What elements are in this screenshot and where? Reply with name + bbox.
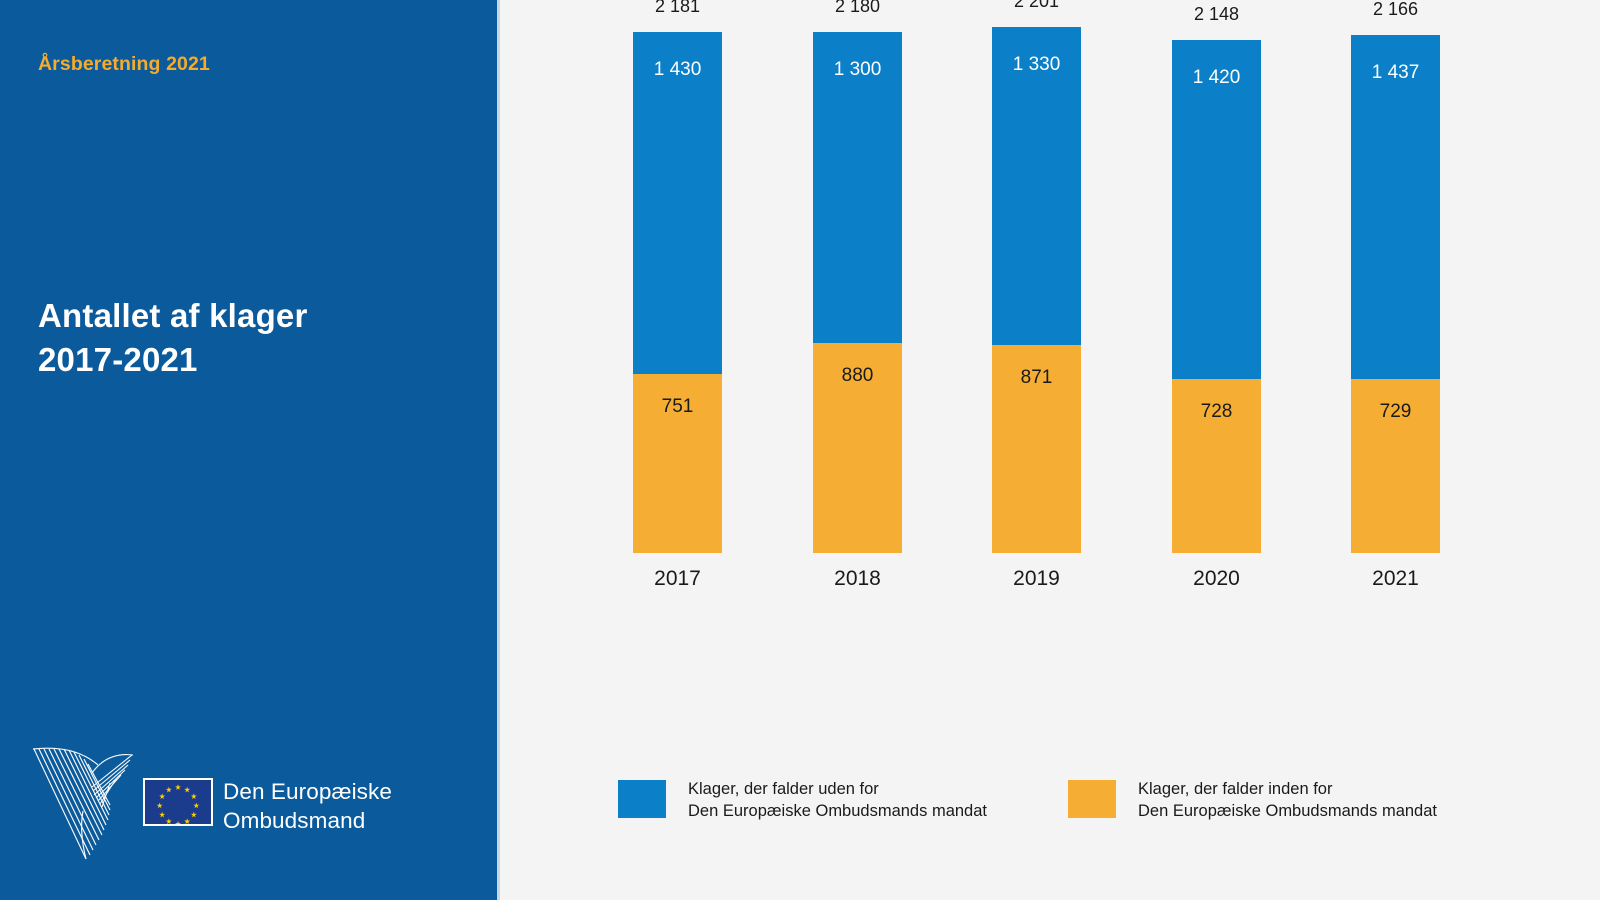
legend-item-outside-mandate[interactable]: Klager, der falder uden forDen Europæisk… — [618, 778, 987, 822]
x-axis-tick-2020: 2020 — [1147, 567, 1287, 591]
bar-total-label: 2 148 — [1147, 4, 1287, 25]
segment-value-outside-mandate: 1 330 — [992, 54, 1081, 76]
bar-group-2018: 2 1801 3008802018 — [813, 32, 902, 553]
eu-flag-icon — [143, 778, 213, 826]
chart-panel: 2 1811 43075120172 1801 30088020182 2011… — [500, 0, 1600, 900]
segment-value-inside-mandate: 871 — [992, 367, 1081, 389]
x-axis-tick-2021: 2021 — [1326, 567, 1466, 591]
page-title-line-1: Antallet af klager — [38, 297, 308, 334]
ombudsman-bird-icon — [30, 735, 140, 865]
legend-label-line-2: Den Europæiske Ombudsmands mandat — [1138, 800, 1437, 822]
segment-value-inside-mandate: 751 — [633, 396, 722, 418]
slide-root: Årsberetning 2021 Antallet af klager 201… — [0, 0, 1600, 900]
bar-segment-inside-mandate: 751 — [633, 374, 722, 553]
bar-group-2020: 2 1481 4207282020 — [1172, 40, 1261, 553]
page-title-line-2: 2017-2021 — [38, 338, 458, 382]
organisation-name: Den Europæiske Ombudsmand — [223, 777, 392, 835]
segment-value-inside-mandate: 729 — [1351, 401, 1440, 423]
x-axis-tick-2018: 2018 — [788, 567, 928, 591]
segment-value-inside-mandate: 728 — [1172, 401, 1261, 423]
bar-segment-outside-mandate: 1 430 — [633, 32, 722, 374]
x-axis-tick-2019: 2019 — [967, 567, 1107, 591]
bar-segment-outside-mandate: 1 437 — [1351, 35, 1440, 379]
segment-value-outside-mandate: 1 437 — [1351, 62, 1440, 84]
legend-label-line-1: Klager, der falder inden for — [1138, 780, 1332, 798]
bar-group-2019: 2 2011 3308712019 — [992, 27, 1081, 553]
bar-segment-outside-mandate: 1 330 — [992, 27, 1081, 345]
sidebar-panel: Årsberetning 2021 Antallet af klager 201… — [0, 0, 497, 900]
bar-group-2017: 2 1811 4307512017 — [633, 32, 722, 553]
bar-segment-outside-mandate: 1 420 — [1172, 40, 1261, 379]
stacked-bar-chart: 2 1811 43075120172 1801 30088020182 2011… — [500, 0, 1600, 760]
bar-segment-inside-mandate: 729 — [1351, 379, 1440, 553]
bar-segment-inside-mandate: 728 — [1172, 379, 1261, 553]
legend-swatch-icon — [618, 780, 666, 818]
organisation-logo: Den Europæiske Ombudsmand — [30, 735, 430, 865]
report-kicker: Årsberetning 2021 — [38, 53, 210, 76]
segment-value-outside-mandate: 1 300 — [813, 59, 902, 81]
bar-total-label: 2 201 — [967, 0, 1107, 12]
segment-value-outside-mandate: 1 430 — [633, 59, 722, 81]
legend-label: Klager, der falder inden forDen Europæis… — [1138, 778, 1437, 822]
legend-label-line-1: Klager, der falder uden for — [688, 780, 879, 798]
bar-segment-inside-mandate: 880 — [813, 343, 902, 553]
bar-total-label: 2 181 — [608, 0, 748, 17]
chart-legend: Klager, der falder uden forDen Europæisk… — [500, 778, 1600, 848]
organisation-name-line-2: Ombudsmand — [223, 806, 392, 835]
bar-total-label: 2 166 — [1326, 0, 1466, 20]
segment-value-outside-mandate: 1 420 — [1172, 67, 1261, 89]
legend-label-line-2: Den Europæiske Ombudsmands mandat — [688, 800, 987, 822]
bar-total-label: 2 180 — [788, 0, 928, 17]
bar-segment-outside-mandate: 1 300 — [813, 32, 902, 343]
organisation-name-line-1: Den Europæiske — [223, 779, 392, 804]
segment-value-inside-mandate: 880 — [813, 365, 902, 387]
legend-item-inside-mandate[interactable]: Klager, der falder inden forDen Europæis… — [1068, 778, 1437, 822]
legend-label: Klager, der falder uden forDen Europæisk… — [688, 778, 987, 822]
bar-segment-inside-mandate: 871 — [992, 345, 1081, 553]
legend-swatch-icon — [1068, 780, 1116, 818]
bar-group-2021: 2 1661 4377292021 — [1351, 35, 1440, 553]
x-axis-tick-2017: 2017 — [608, 567, 748, 591]
page-title: Antallet af klager 2017-2021 — [38, 294, 458, 382]
